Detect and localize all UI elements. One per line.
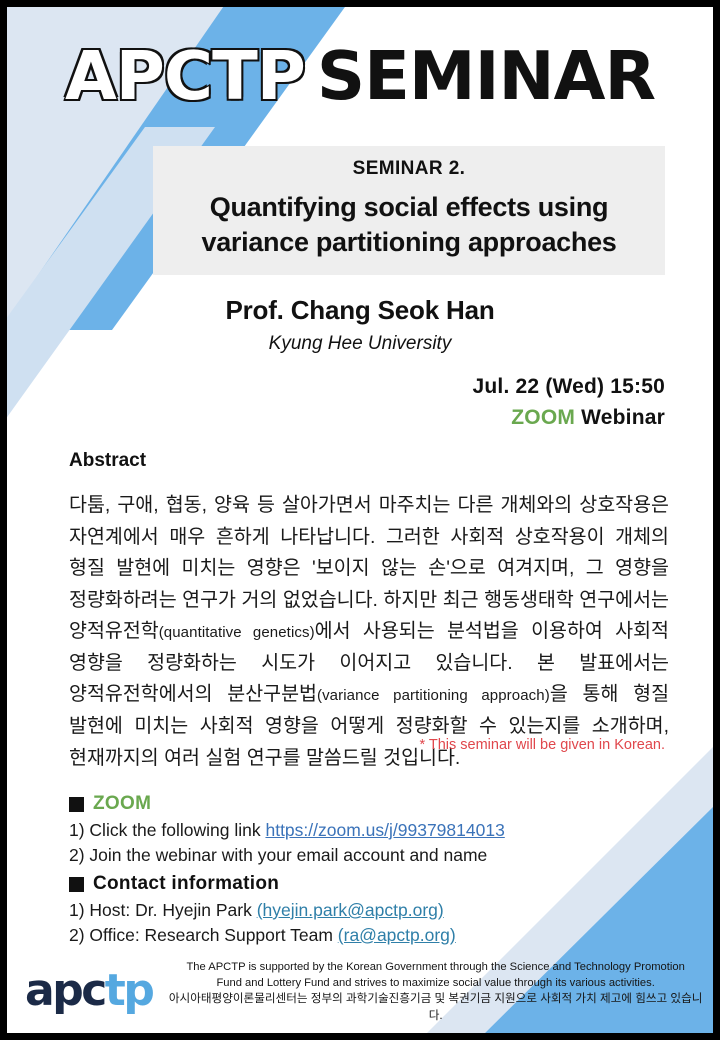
contact-section-title: Contact information	[93, 873, 279, 895]
contact-host-line: 1) Host: Dr. Hyejin Park (hyejin.park@ap…	[69, 898, 669, 923]
seminar-platform: ZOOM Webinar	[473, 406, 665, 430]
zoom-section-heading: ZOOM	[69, 793, 669, 815]
contact-office-line: 2) Office: Research Support Team (ra@apc…	[69, 923, 669, 948]
speaker-affiliation: Kyung Hee University	[7, 333, 713, 355]
speaker-name: Prof. Chang Seok Han	[7, 295, 713, 326]
zoom-wordmark: ZOOM	[511, 406, 575, 429]
apctp-logo: apctp	[25, 969, 152, 1013]
contact-section: Contact information 1) Host: Dr. Hyejin …	[69, 873, 669, 948]
poster-footer: apctp The APCTP is supported by the Kore…	[7, 945, 713, 1033]
zoom-step-2: 2) Join the webinar with your email acco…	[69, 843, 669, 868]
zoom-section: ZOOM 1) Click the following link https:/…	[69, 793, 669, 868]
footer-text-korean: 아시아태평양이론물리센터는 정부의 과학기술진흥기금 및 복권기금 지원으로 사…	[166, 991, 705, 1025]
black-square-bullet-icon	[69, 877, 84, 892]
contact-office-text: 2) Office: Research Support Team	[69, 925, 338, 945]
seminar-title-line-2: variance partitioning approaches	[161, 225, 657, 260]
schedule-block: Jul. 22 (Wed) 15:50 ZOOM Webinar	[473, 375, 665, 430]
abstract-inline-english-1: (quantitative genetics)	[159, 624, 315, 641]
seminar-title: Quantifying social effects using varianc…	[161, 190, 657, 259]
seminar-number: SEMINAR 2.	[161, 158, 657, 180]
seminar-datetime: Jul. 22 (Wed) 15:50	[473, 375, 665, 399]
seminar-poster: APCTPSEMINAR SEMINAR 2. Quantifying soci…	[0, 0, 720, 1040]
black-square-bullet-icon	[69, 797, 84, 812]
contact-host-text: 1) Host: Dr. Hyejin Park	[69, 900, 257, 920]
title-panel: SEMINAR 2. Quantifying social effects us…	[153, 146, 665, 275]
zoom-section-title: ZOOM	[93, 793, 151, 815]
footer-text-en-line-1: The APCTP is supported by the Korean Gov…	[166, 959, 705, 975]
poster-header: APCTPSEMINAR	[7, 43, 713, 110]
host-email-link[interactable]: (hyejin.park@apctp.org)	[257, 900, 444, 920]
language-note: * This seminar will be given in Korean.	[419, 737, 665, 753]
speaker-block: Prof. Chang Seok Han Kyung Hee Universit…	[7, 295, 713, 355]
webinar-label: Webinar	[581, 406, 665, 429]
zoom-meeting-link[interactable]: https://zoom.us/j/99379814013	[265, 820, 504, 840]
seminar-title-line-1: Quantifying social effects using	[161, 190, 657, 225]
abstract-body: 다툼, 구애, 협동, 양육 등 살아가면서 마주치는 다른 개체와의 상호작용…	[69, 490, 669, 774]
apctp-logo-blue-part: tp	[105, 965, 153, 1016]
office-email-link[interactable]: (ra@apctp.org)	[338, 925, 456, 945]
abstract-inline-english-2: (variance partitioning approach)	[317, 687, 550, 704]
header-word-seminar: SEMINAR	[317, 37, 655, 115]
contact-section-heading: Contact information	[69, 873, 669, 895]
poster-content: APCTPSEMINAR SEMINAR 2. Quantifying soci…	[7, 7, 713, 1033]
footer-text-en-line-2: Fund and Lottery Fund and strives to max…	[166, 975, 705, 991]
header-brand-apctp: APCTP	[65, 37, 305, 115]
zoom-step-1: 1) Click the following link https://zoom…	[69, 818, 669, 843]
abstract-heading: Abstract	[69, 450, 146, 472]
zoom-step-1-text: 1) Click the following link	[69, 820, 265, 840]
apctp-logo-dark-part: apc	[25, 965, 105, 1016]
footer-support-text: The APCTP is supported by the Korean Gov…	[152, 959, 713, 1025]
